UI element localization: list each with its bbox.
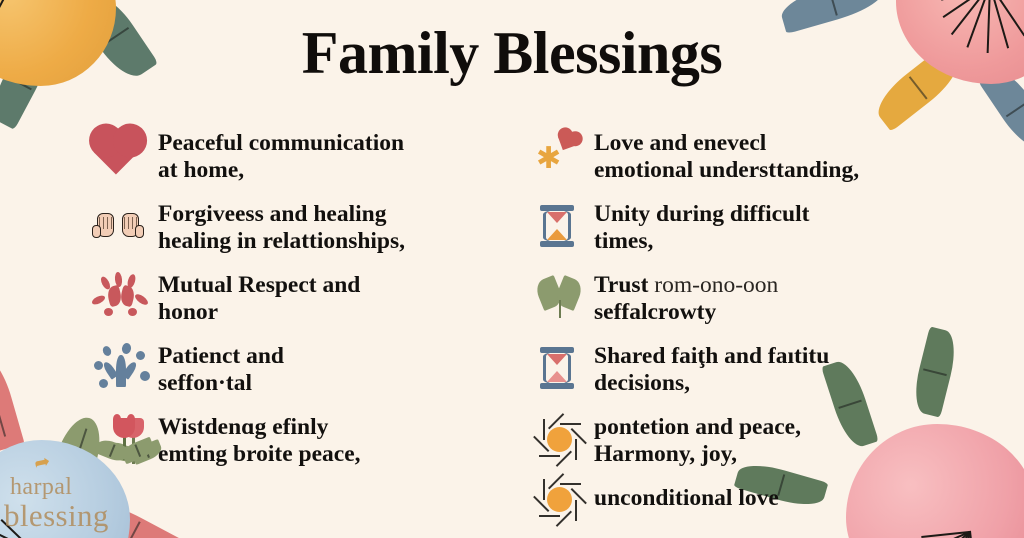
list-item-text: Wistdenɑg efinly emting broite peace, [158, 412, 361, 469]
list-item-line2: emting broite peace, [158, 441, 361, 468]
list-item: Patienct and seffon·tal [92, 341, 492, 398]
sparkle-icon: ✱ [536, 146, 558, 172]
tulip-icon [92, 412, 158, 466]
hourglass-icon [528, 199, 594, 253]
list-item-line1: Mutual Respect and [158, 272, 360, 299]
sun-icon [528, 412, 594, 466]
heart-icon [92, 128, 158, 182]
page-title: Family Blessings [0, 22, 1024, 85]
list-item-text: Shared faiţh and faıtitu decisions, [594, 341, 829, 398]
blessings-right-column: ✱ Love and enevecl emotional understtand… [528, 128, 948, 537]
list-item-text: Love and enevecl emotional understtandin… [594, 128, 859, 185]
mini-heart-icon [558, 132, 577, 150]
list-item-line1: unconditional love [594, 485, 779, 512]
sun-icon [528, 477, 594, 523]
blue-sprig-icon [92, 341, 158, 395]
list-item-text: Unity during difficult times, [594, 199, 809, 256]
list-item-line2: decisions, [594, 370, 829, 397]
poster-canvas: Family Blessings Peaceful communication … [0, 0, 1024, 538]
list-item-line2: healing in relattionships, [158, 228, 405, 255]
list-item: ✱ Love and enevecl emotional understtand… [528, 128, 948, 185]
list-item: unconditional love [528, 477, 948, 523]
list-item: Forgiveess and healing healing in relatt… [92, 199, 492, 256]
list-item: Wistdenɑg efinly emting broite peace, [92, 412, 492, 469]
list-item: Mutual Respect and honor [92, 270, 492, 327]
list-item-line2: emotional understtanding, [594, 157, 859, 184]
list-item-text: Peaceful communication at home, [158, 128, 404, 185]
blessings-left-column: Peaceful communication at home, Forgivee… [92, 128, 492, 483]
list-item-line1: Trust rom-ono-oon [594, 272, 778, 299]
list-item-text: unconditional love [594, 477, 779, 512]
list-item: Shared faiţh and faıtitu decisions, [528, 341, 948, 398]
sun-rays [559, 439, 561, 441]
list-item-text: pontetion and peace, Harmony, joy, [594, 412, 801, 469]
list-item: pontetion and peace, Harmony, joy, [528, 412, 948, 469]
list-item: Unity during difficult times, [528, 199, 948, 256]
list-item-text: Forgiveess and healing healing in relatt… [158, 199, 405, 256]
petal-scatter-icon [92, 270, 158, 324]
list-item-line1: Love and enevecl [594, 130, 859, 157]
list-item: Peaceful communication at home, [92, 128, 492, 185]
list-item-line1: Shared faiţh and faıtitu [594, 343, 829, 370]
praying-hands-icon [92, 199, 158, 253]
watermark: ➦ harpal blessing [4, 475, 128, 532]
leaf [0, 351, 25, 453]
leaf-pair-icon [528, 270, 594, 324]
list-item-line1: Wistdenɑg efinly [158, 414, 361, 441]
list-item-line2: at home, [158, 157, 404, 184]
list-item-text: Mutual Respect and honor [158, 270, 360, 327]
list-item-line1: Peaceful communication [158, 130, 404, 157]
dove-icon: ➦ [33, 450, 66, 472]
list-item-text: Patienct and seffon·tal [158, 341, 284, 398]
sparkle-heart-icon: ✱ [528, 128, 594, 182]
list-item-line1: Unity during difficult [594, 201, 809, 228]
list-item-line2: seffon·tal [158, 370, 284, 397]
list-item-line1-strong: Trust [594, 272, 648, 298]
list-item-line2: times, [594, 228, 809, 255]
list-item: Trust rom-ono-oon seffalcrowty [528, 270, 948, 327]
list-item-line2: Harmony, joy, [594, 441, 801, 468]
list-item-line2: honor [158, 299, 360, 326]
leaf [76, 492, 190, 538]
sun-rays [559, 499, 561, 501]
hourglass-icon [528, 341, 594, 395]
list-item-line1: pontetion and peace, [594, 414, 801, 441]
list-item-text: Trust rom-ono-oon seffalcrowty [594, 270, 778, 327]
list-item-line1-soft: rom-ono-oon [654, 272, 778, 298]
list-item-line2: seffalcrowty [594, 299, 778, 326]
watermark-line2: blessing [4, 500, 128, 532]
list-item-line1: Patienct and [158, 343, 284, 370]
flower-rays [968, 530, 970, 532]
list-item-line1: Forgiveess and healing [158, 201, 405, 228]
